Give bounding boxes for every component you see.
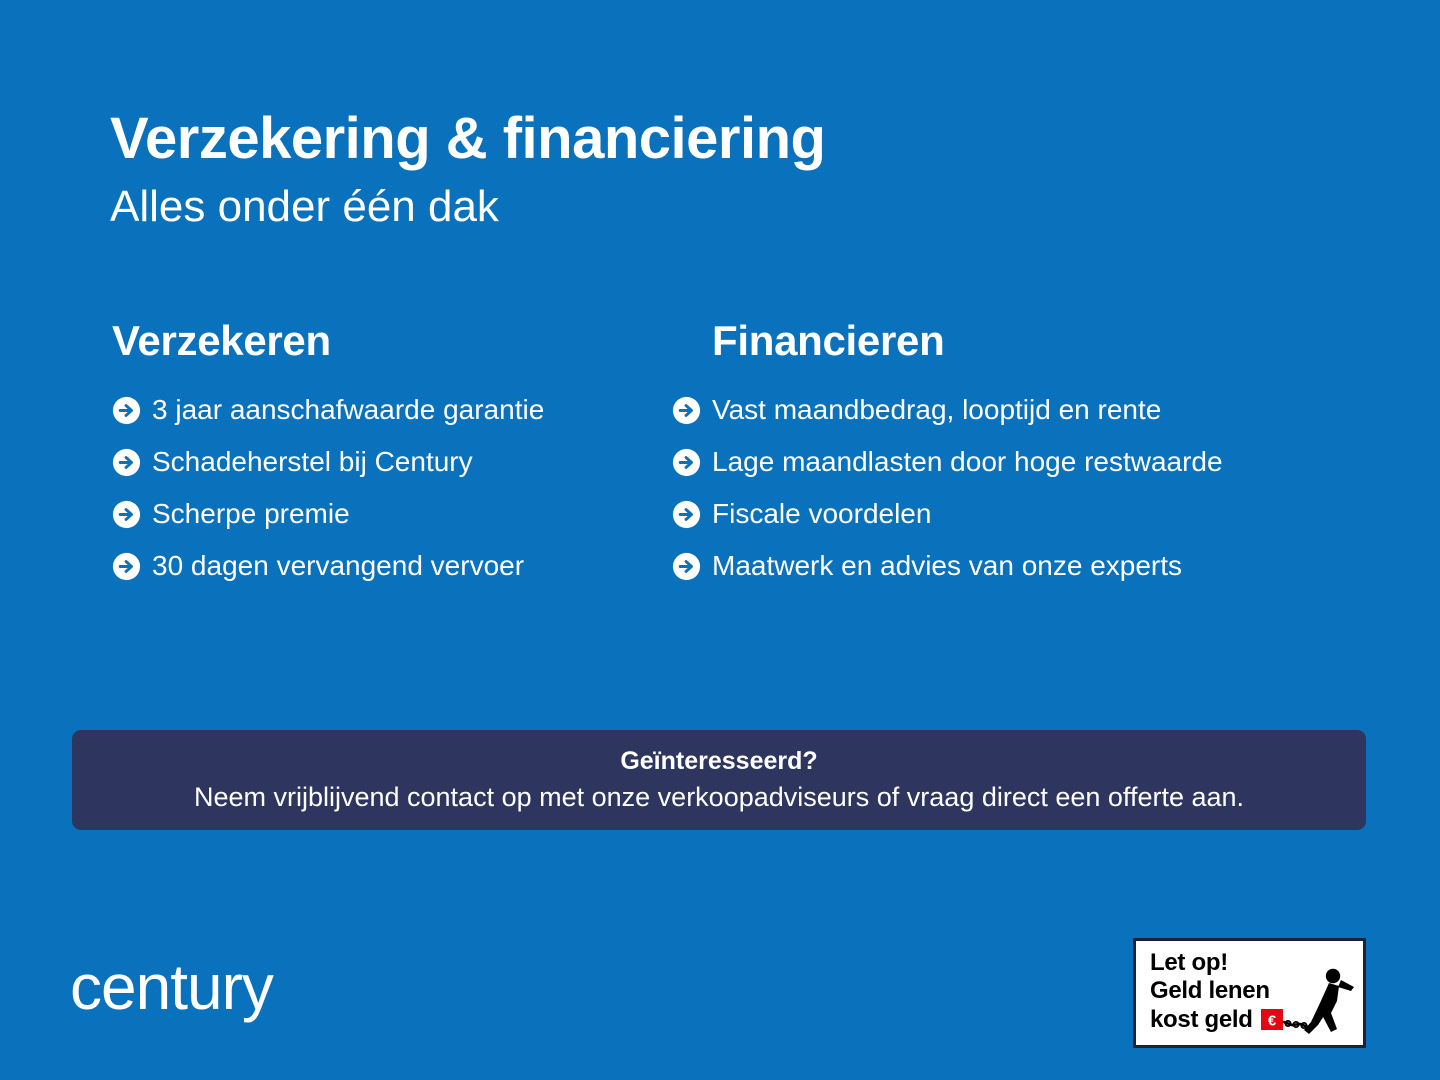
list-item-label: 30 dagen vervangend vervoer [152, 550, 524, 582]
afm-warning-badge: Let op! Geld lenen kost geld € [1133, 938, 1366, 1048]
list-item-label: Fiscale voordelen [712, 498, 931, 530]
list-item: Vast maandbedrag, looptijd en rente [672, 384, 1370, 436]
list-item: Scherpe premie [112, 488, 630, 540]
page-title: Verzekering & financiering [110, 108, 1310, 171]
page-subtitle: Alles onder één dak [110, 181, 1310, 234]
column-financieren: Financieren Vast maandbedrag, looptijd e… [630, 318, 1370, 592]
list-item-label: Schadeherstel bij Century [152, 446, 473, 478]
century-logo: century [70, 955, 273, 1019]
bullet-list-verzekeren: 3 jaar aanschafwaarde garantie Schadeher… [112, 384, 630, 592]
walking-person-icon: € [1261, 967, 1357, 1041]
column-heading: Verzekeren [112, 318, 630, 364]
list-item: Lage maandlasten door hoge restwaarde [672, 436, 1370, 488]
list-item: 30 dagen vervangend vervoer [112, 540, 630, 592]
list-item-label: 3 jaar aanschafwaarde garantie [152, 394, 544, 426]
list-item-label: Maatwerk en advies van onze experts [712, 550, 1182, 582]
feature-columns: Verzekeren 3 jaar aanschafwaarde garanti… [0, 318, 1440, 592]
warning-badge-inner: Let op! Geld lenen kost geld € [1136, 941, 1363, 1045]
list-item-label: Lage maandlasten door hoge restwaarde [712, 446, 1223, 478]
list-item-label: Scherpe premie [152, 498, 350, 530]
column-verzekeren: Verzekeren 3 jaar aanschafwaarde garanti… [0, 318, 630, 592]
arrow-right-circle-icon [112, 500, 141, 529]
slide-root: Verzekering & financiering Alles onder é… [0, 0, 1440, 1080]
slide-header: Verzekering & financiering Alles onder é… [110, 108, 1310, 233]
list-item: Fiscale voordelen [672, 488, 1370, 540]
list-item: Maatwerk en advies van onze experts [672, 540, 1370, 592]
cta-text: Neem vrijblijvend contact op met onze ve… [194, 781, 1244, 813]
cta-title: Geïnteresseerd? [620, 746, 817, 777]
arrow-right-circle-icon [672, 396, 701, 425]
list-item-label: Vast maandbedrag, looptijd en rente [712, 394, 1161, 426]
cta-banner: Geïnteresseerd? Neem vrijblijvend contac… [72, 730, 1366, 830]
list-item: 3 jaar aanschafwaarde garantie [112, 384, 630, 436]
column-heading: Financieren [712, 318, 1370, 364]
arrow-right-circle-icon [112, 552, 141, 581]
arrow-right-circle-icon [112, 396, 141, 425]
arrow-right-circle-icon [672, 552, 701, 581]
arrow-right-circle-icon [112, 448, 141, 477]
svg-text:€: € [1268, 1013, 1277, 1030]
arrow-right-circle-icon [672, 500, 701, 529]
arrow-right-circle-icon [672, 448, 701, 477]
bullet-list-financieren: Vast maandbedrag, looptijd en rente Lage… [672, 384, 1370, 592]
list-item: Schadeherstel bij Century [112, 436, 630, 488]
